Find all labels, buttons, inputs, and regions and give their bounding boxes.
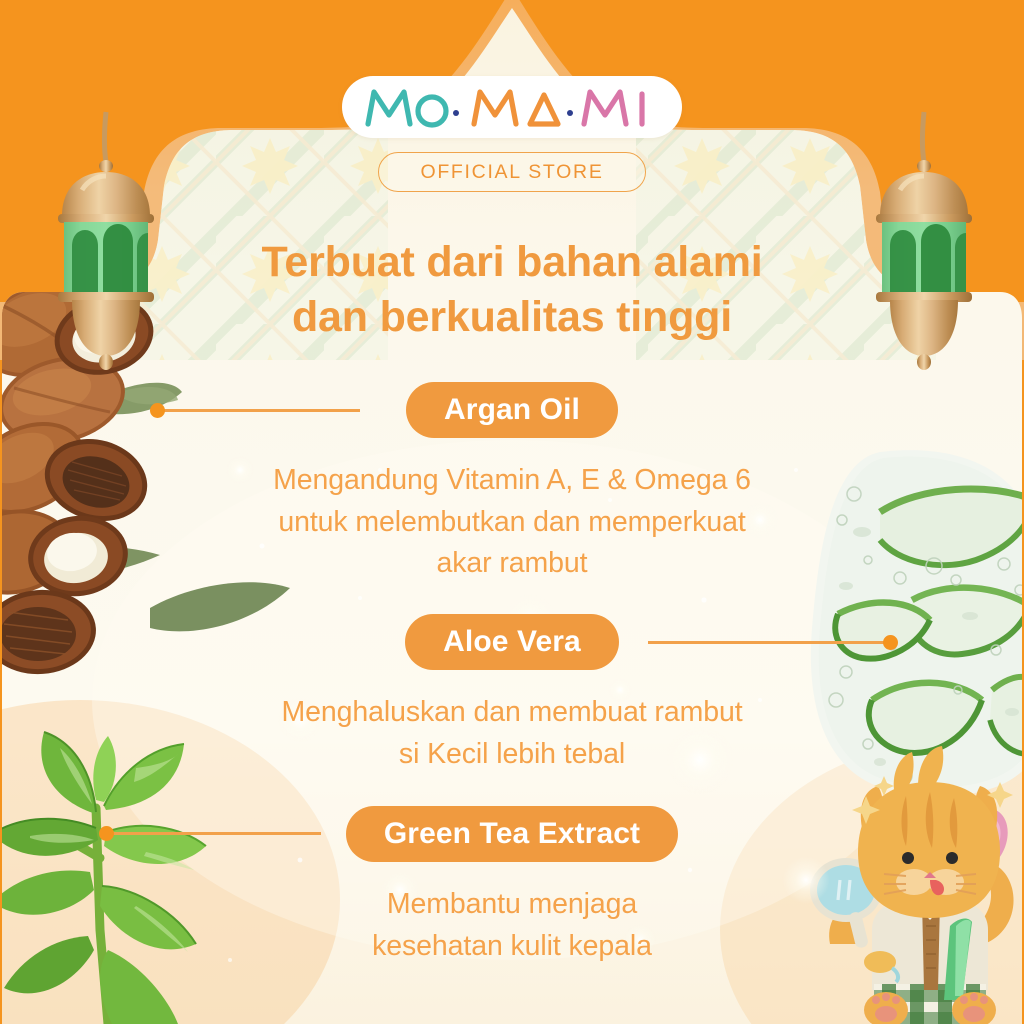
desc-line: Membantu menjaga: [0, 884, 1024, 926]
ingredient-block-green-tea: Green Tea Extract Membantu menjaga keseh…: [0, 806, 1024, 967]
ingredient-description-green-tea: Membantu menjaga kesehatan kulit kepala: [0, 884, 1024, 967]
ingredient-name-argan-oil: Argan Oil: [444, 393, 580, 427]
desc-line: untuk melembutkan dan memperkuat: [0, 502, 1024, 544]
ingredient-description-aloe-vera: Menghaluskan dan membuat rambut si Kecil…: [0, 692, 1024, 775]
ingredient-name-aloe-vera: Aloe Vera: [443, 625, 581, 659]
brand-logo[interactable]: [342, 76, 682, 138]
desc-line: akar rambut: [0, 543, 1024, 585]
official-store-badge[interactable]: OFFICIAL STORE: [378, 152, 646, 192]
headline-line-2: dan berkualitas tinggi: [0, 290, 1024, 345]
headline-line-1: Terbuat dari bahan alami: [0, 235, 1024, 290]
desc-line: kesehatan kulit kepala: [0, 926, 1024, 968]
ingredient-block-aloe-vera: Aloe Vera Menghaluskan dan membuat rambu…: [0, 614, 1024, 775]
connector-dot-aloe-vera: [883, 635, 898, 650]
desc-line: Mengandung Vitamin A, E & Omega 6: [0, 460, 1024, 502]
ingredient-pill-argan-oil[interactable]: Argan Oil: [406, 382, 618, 438]
connector-line-argan-oil: [156, 409, 360, 412]
official-store-label: OFFICIAL STORE: [420, 161, 603, 184]
momami-logo-lettering: [362, 83, 662, 131]
connector-line-green-tea: [105, 832, 321, 835]
connector-line-aloe-vera: [648, 641, 892, 644]
desc-line: Menghaluskan dan membuat rambut: [0, 692, 1024, 734]
connector-dot-green-tea: [99, 826, 114, 841]
ingredient-pill-aloe-vera[interactable]: Aloe Vera: [405, 614, 619, 670]
poster-canvas: OFFICIAL STORE Terbuat dari bahan alami …: [0, 0, 1024, 1024]
connector-dot-argan-oil: [150, 403, 165, 418]
ingredient-pill-green-tea[interactable]: Green Tea Extract: [346, 806, 678, 862]
page-title: Terbuat dari bahan alami dan berkualitas…: [0, 235, 1024, 345]
ingredient-description-argan-oil: Mengandung Vitamin A, E & Omega 6 untuk …: [0, 460, 1024, 585]
ingredient-name-green-tea: Green Tea Extract: [384, 817, 640, 851]
desc-line: si Kecil lebih tebal: [0, 734, 1024, 776]
